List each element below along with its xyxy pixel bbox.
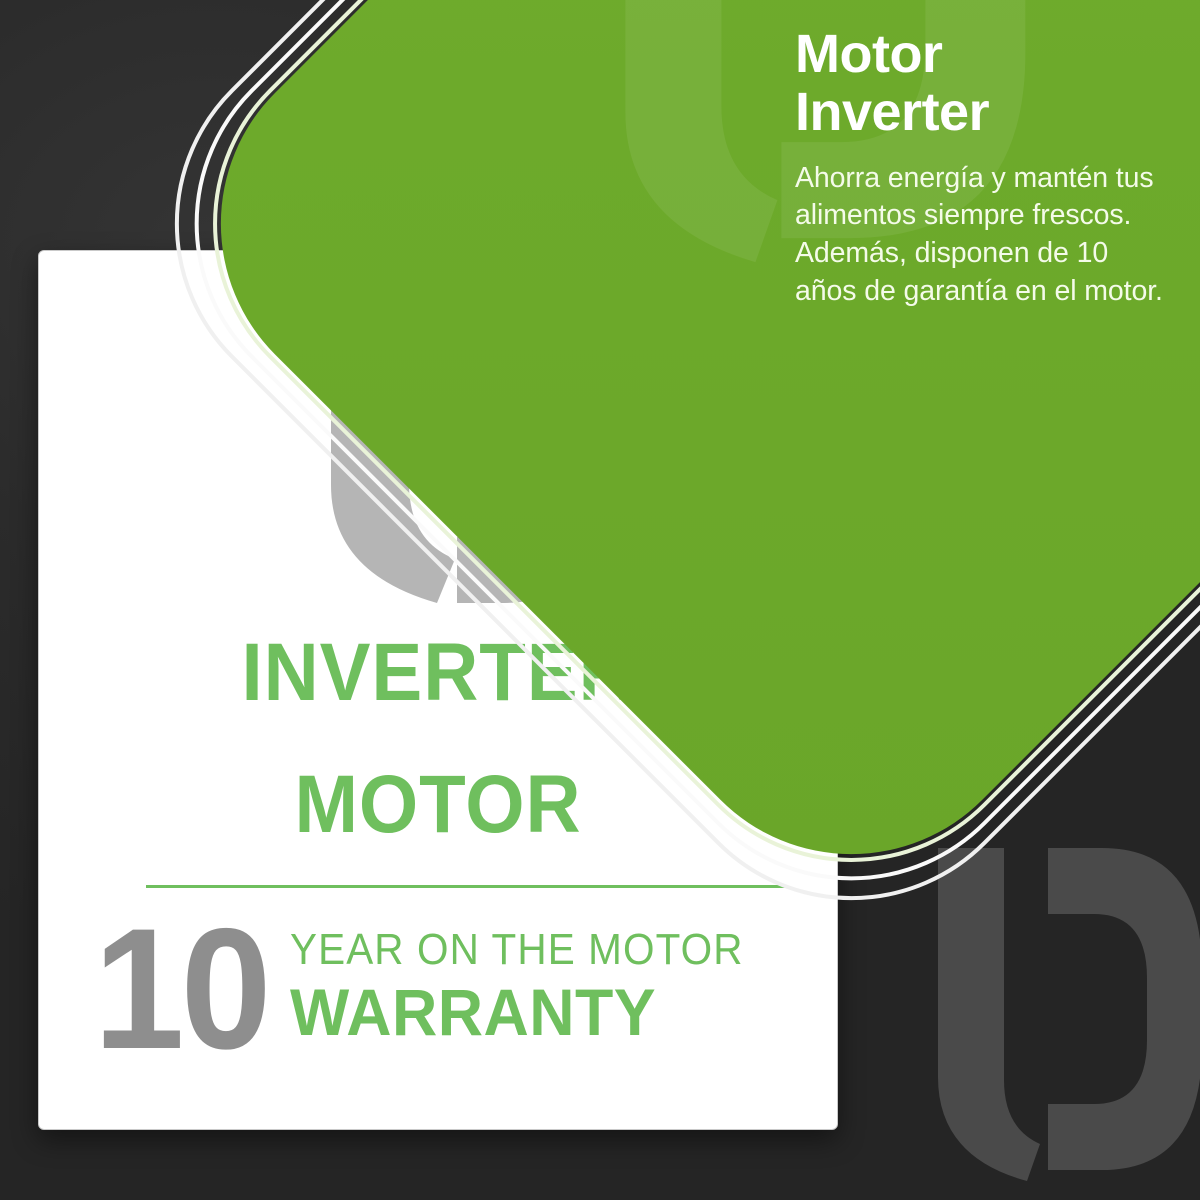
panel-body-copy: Ahorra energía y mantén tus alimentos si…: [795, 160, 1167, 312]
warranty-text-group: YEAR ON THE MOTOR WARRANTY: [290, 928, 783, 1051]
panel-headline-line1: Motor: [795, 24, 942, 84]
brand-logo-watermark-bottom: [910, 830, 1200, 1200]
warranty-label-bottom: WARRANTY: [290, 978, 758, 1047]
warranty-block: 10 YEAR ON THE MOTOR WARRANTY: [89, 919, 797, 1060]
warranty-years: 10: [94, 919, 268, 1060]
warranty-label-top: YEAR ON THE MOTOR: [290, 928, 744, 972]
card-divider: [146, 885, 786, 888]
panel-headline: Motor Inverter: [795, 26, 1167, 142]
panel-content: Motor Inverter Ahorra energía y mantén t…: [795, 26, 1167, 311]
panel-headline-line2: Inverter: [795, 84, 1167, 142]
promo-banner: INVERTER MOTOR 10 YEAR ON THE MOTOR WARR…: [0, 0, 1200, 1200]
